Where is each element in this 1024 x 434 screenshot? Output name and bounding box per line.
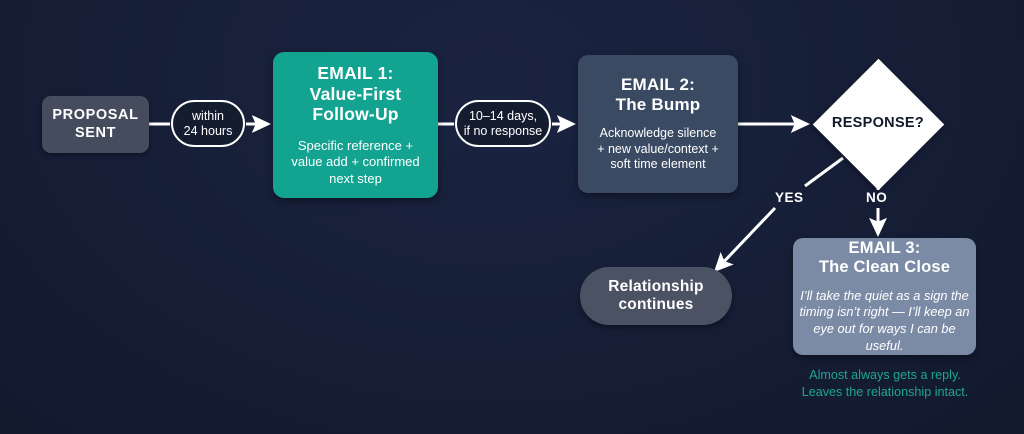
node-email-1-title: EMAIL 1: Value-First Follow-Up: [310, 63, 402, 125]
edge-label-10-14-days-line2: if no response: [464, 124, 543, 139]
edge-label-within-24-hours[interactable]: within 24 hours: [171, 100, 245, 147]
node-email-1-body: Specific reference + value add + confirm…: [291, 138, 419, 187]
node-email-2-body-line2: + new value/context +: [597, 142, 719, 156]
outcome-caption-line2: Leaves the relationship intact.: [802, 385, 969, 399]
branch-label-no: NO: [866, 190, 887, 205]
node-email-2[interactable]: EMAIL 2: The Bump Acknowledge silence + …: [578, 55, 738, 193]
node-proposal-sent-line1: PROPOSAL: [52, 107, 138, 123]
node-email-3-body-line3: eye out for ways I can be useful.: [813, 321, 955, 353]
node-relationship-continues-line2: continues: [618, 296, 693, 313]
node-email-3-body-line1: I’ll take the quiet as a sign the: [800, 288, 969, 303]
node-decision-response[interactable]: RESPONSE?: [812, 58, 944, 190]
node-proposal-sent-line2: SENT: [75, 125, 116, 141]
node-email-3-body: I’ll take the quiet as a sign the timing…: [799, 288, 970, 355]
edge-yes-lower: [716, 208, 775, 270]
node-email-3-body-line2: timing isn’t right — I’ll keep an: [800, 304, 970, 319]
branch-label-yes: YES: [775, 190, 804, 205]
edge-label-10-14-days-line1: 10–14 days,: [469, 109, 537, 124]
edge-label-within-24-hours-line2: 24 hours: [184, 124, 233, 139]
node-email-1-body-line3: next step: [329, 171, 382, 186]
node-relationship-continues-title: Relationship continues: [608, 278, 703, 315]
node-email-1-title-line3: Follow-Up: [312, 104, 398, 124]
node-email-2-body-line1: Acknowledge silence: [600, 126, 717, 140]
edge-label-10-14-days[interactable]: 10–14 days, if no response: [455, 100, 551, 147]
node-email-3-title: EMAIL 3: The Clean Close: [819, 239, 950, 278]
outcome-caption-line1: Almost always gets a reply.: [809, 368, 961, 382]
outcome-caption: Almost always gets a reply. Leaves the r…: [785, 367, 985, 401]
node-proposal-sent[interactable]: PROPOSAL SENT: [42, 96, 149, 153]
node-email-1-body-line1: Specific reference +: [298, 138, 413, 153]
node-email-3-title-line2: The Clean Close: [819, 258, 950, 276]
node-email-2-body-line3: soft time element: [610, 157, 705, 171]
node-decision-response-label: RESPONSE?: [832, 115, 924, 132]
node-email-1-title-line1: EMAIL 1:: [317, 63, 393, 83]
node-email-2-title: EMAIL 2: The Bump: [616, 75, 701, 115]
node-email-1[interactable]: EMAIL 1: Value-First Follow-Up Specific …: [273, 52, 438, 198]
node-email-2-title-line2: The Bump: [616, 95, 701, 114]
node-proposal-sent-title: PROPOSAL SENT: [52, 107, 138, 141]
node-relationship-continues-line1: Relationship: [608, 278, 703, 295]
node-email-1-title-line2: Value-First: [310, 84, 402, 104]
node-email-3-title-line1: EMAIL 3:: [849, 239, 921, 257]
flowchart-canvas: PROPOSAL SENT within 24 hours EMAIL 1: V…: [0, 0, 1024, 434]
node-relationship-continues[interactable]: Relationship continues: [580, 267, 732, 325]
node-email-2-title-line1: EMAIL 2:: [621, 75, 695, 94]
node-email-2-body: Acknowledge silence + new value/context …: [597, 126, 719, 173]
node-email-3[interactable]: EMAIL 3: The Clean Close I’ll take the q…: [793, 238, 976, 355]
node-email-1-body-line2: value add + confirmed: [291, 154, 419, 169]
edge-label-within-24-hours-line1: within: [192, 109, 224, 124]
